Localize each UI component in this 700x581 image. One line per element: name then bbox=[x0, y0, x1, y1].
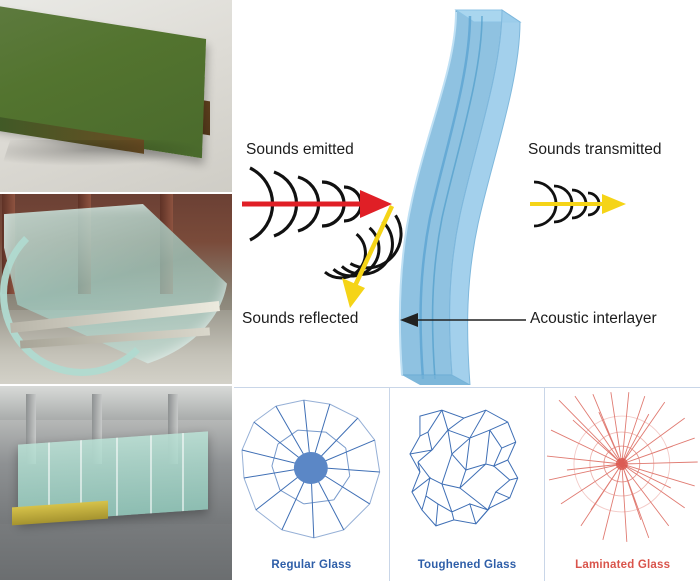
glass-edge-line bbox=[182, 433, 184, 511]
caption-regular-glass: Regular Glass bbox=[234, 559, 389, 571]
glass-slab-group bbox=[400, 8, 520, 385]
laminated-glass-break-pattern bbox=[545, 392, 700, 542]
caption-toughened-glass: Toughened Glass bbox=[390, 559, 545, 571]
break-cell-toughened-glass: Toughened Glass bbox=[389, 388, 545, 581]
break-cell-regular-glass: Regular Glass bbox=[234, 388, 389, 581]
glass-edge-line bbox=[116, 438, 118, 516]
photo-glass-stack-in-factory bbox=[0, 386, 232, 580]
sounds-transmitted-indicator bbox=[530, 182, 626, 226]
label-acoustic-interlayer: Acoustic interlayer bbox=[530, 310, 657, 328]
label-sounds-emitted: Sounds emitted bbox=[246, 141, 354, 159]
label-sounds-reflected: Sounds reflected bbox=[242, 310, 358, 328]
regular-glass-break-pattern bbox=[234, 392, 389, 542]
photo-column bbox=[0, 0, 232, 580]
break-pattern-comparison: Regular Glass Toughened Glass bbox=[234, 387, 700, 581]
break-cell-laminated-glass: Laminated Glass bbox=[544, 388, 700, 581]
infographic-page: Sounds emitted Sounds transmitted Sounds… bbox=[0, 0, 700, 580]
sheet-shadow bbox=[2, 140, 206, 166]
caption-laminated-glass: Laminated Glass bbox=[545, 559, 700, 571]
toughened-glass-break-pattern bbox=[390, 392, 545, 542]
photo-green-tinted-float-glass-sheet bbox=[0, 0, 232, 192]
photo-curved-laminated-glass-panel bbox=[0, 194, 232, 384]
glass-edge-line bbox=[150, 435, 152, 513]
factory-floor bbox=[0, 524, 232, 580]
acoustic-interlayer-diagram: Sounds emitted Sounds transmitted Sounds… bbox=[234, 0, 700, 385]
label-sounds-transmitted: Sounds transmitted bbox=[528, 141, 662, 159]
curved-glass-arc bbox=[0, 212, 164, 376]
